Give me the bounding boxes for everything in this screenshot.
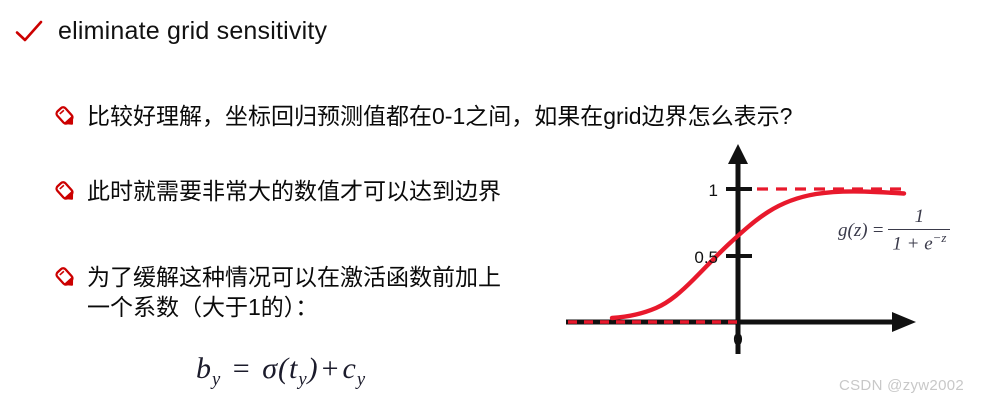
chart-formula-numerator: 1 — [909, 206, 931, 229]
bullet-item: 比较好理解，坐标回归预测值都在0-1之间，如果在grid边界怎么表示? — [52, 101, 792, 131]
formula-arg-subscript: y — [298, 369, 307, 390]
main-formula: by = σ(ty)+cy — [196, 352, 366, 391]
y-tick-label-1: 1 — [709, 181, 718, 200]
page-title: eliminate grid sensitivity — [58, 18, 327, 46]
y-tick-label-0-5: 0.5 — [694, 248, 718, 267]
heading-row: eliminate grid sensitivity — [14, 18, 327, 46]
pencil-icon — [52, 103, 78, 129]
chart-formula-equals: = — [872, 220, 885, 242]
chart-formula-annotation: g(z) = 1 1 + e−z — [838, 206, 950, 255]
formula-lhs-subscript: y — [212, 369, 221, 390]
bullet-text: 比较好理解，坐标回归预测值都在0-1之间，如果在grid边界怎么表示? — [87, 101, 792, 131]
x-tick-label-0: 0 — [733, 330, 742, 349]
formula-open-paren: ( — [278, 352, 289, 385]
formula-equals: = — [230, 352, 254, 385]
formula-rhs: c — [343, 352, 357, 385]
chart-formula-denominator-base: 1 + e — [892, 233, 932, 254]
y-axis-arrow — [728, 144, 748, 164]
formula-rhs-subscript: y — [357, 369, 366, 390]
pencil-icon — [52, 178, 78, 204]
watermark: CSDN @zyw2002 — [839, 377, 964, 394]
formula-close-paren: ) — [308, 352, 319, 385]
chart-formula-function: g(z) — [838, 220, 868, 242]
formula-arg: t — [289, 352, 298, 385]
chart-formula-fraction: 1 1 + e−z — [888, 206, 950, 255]
chart-formula-denominator: 1 + e−z — [888, 230, 950, 255]
chart-formula-denominator-exponent: −z — [933, 230, 947, 245]
bullet-text: 此时就需要非常大的数值才可以达到边界 — [87, 176, 501, 206]
formula-sigma: σ — [262, 352, 278, 385]
bullet-item: 此时就需要非常大的数值才可以达到边界 — [52, 176, 501, 206]
bullet-text: 为了缓解这种情况可以在激活函数前加上 一个系数（大于1的）： — [87, 262, 501, 322]
bullet-item: 为了缓解这种情况可以在激活函数前加上 一个系数（大于1的）： — [52, 262, 501, 322]
pencil-icon — [52, 264, 78, 290]
x-axis-arrow — [892, 312, 916, 332]
formula-plus: + — [319, 352, 343, 385]
formula-lhs: b — [196, 352, 212, 385]
check-icon — [14, 18, 44, 46]
